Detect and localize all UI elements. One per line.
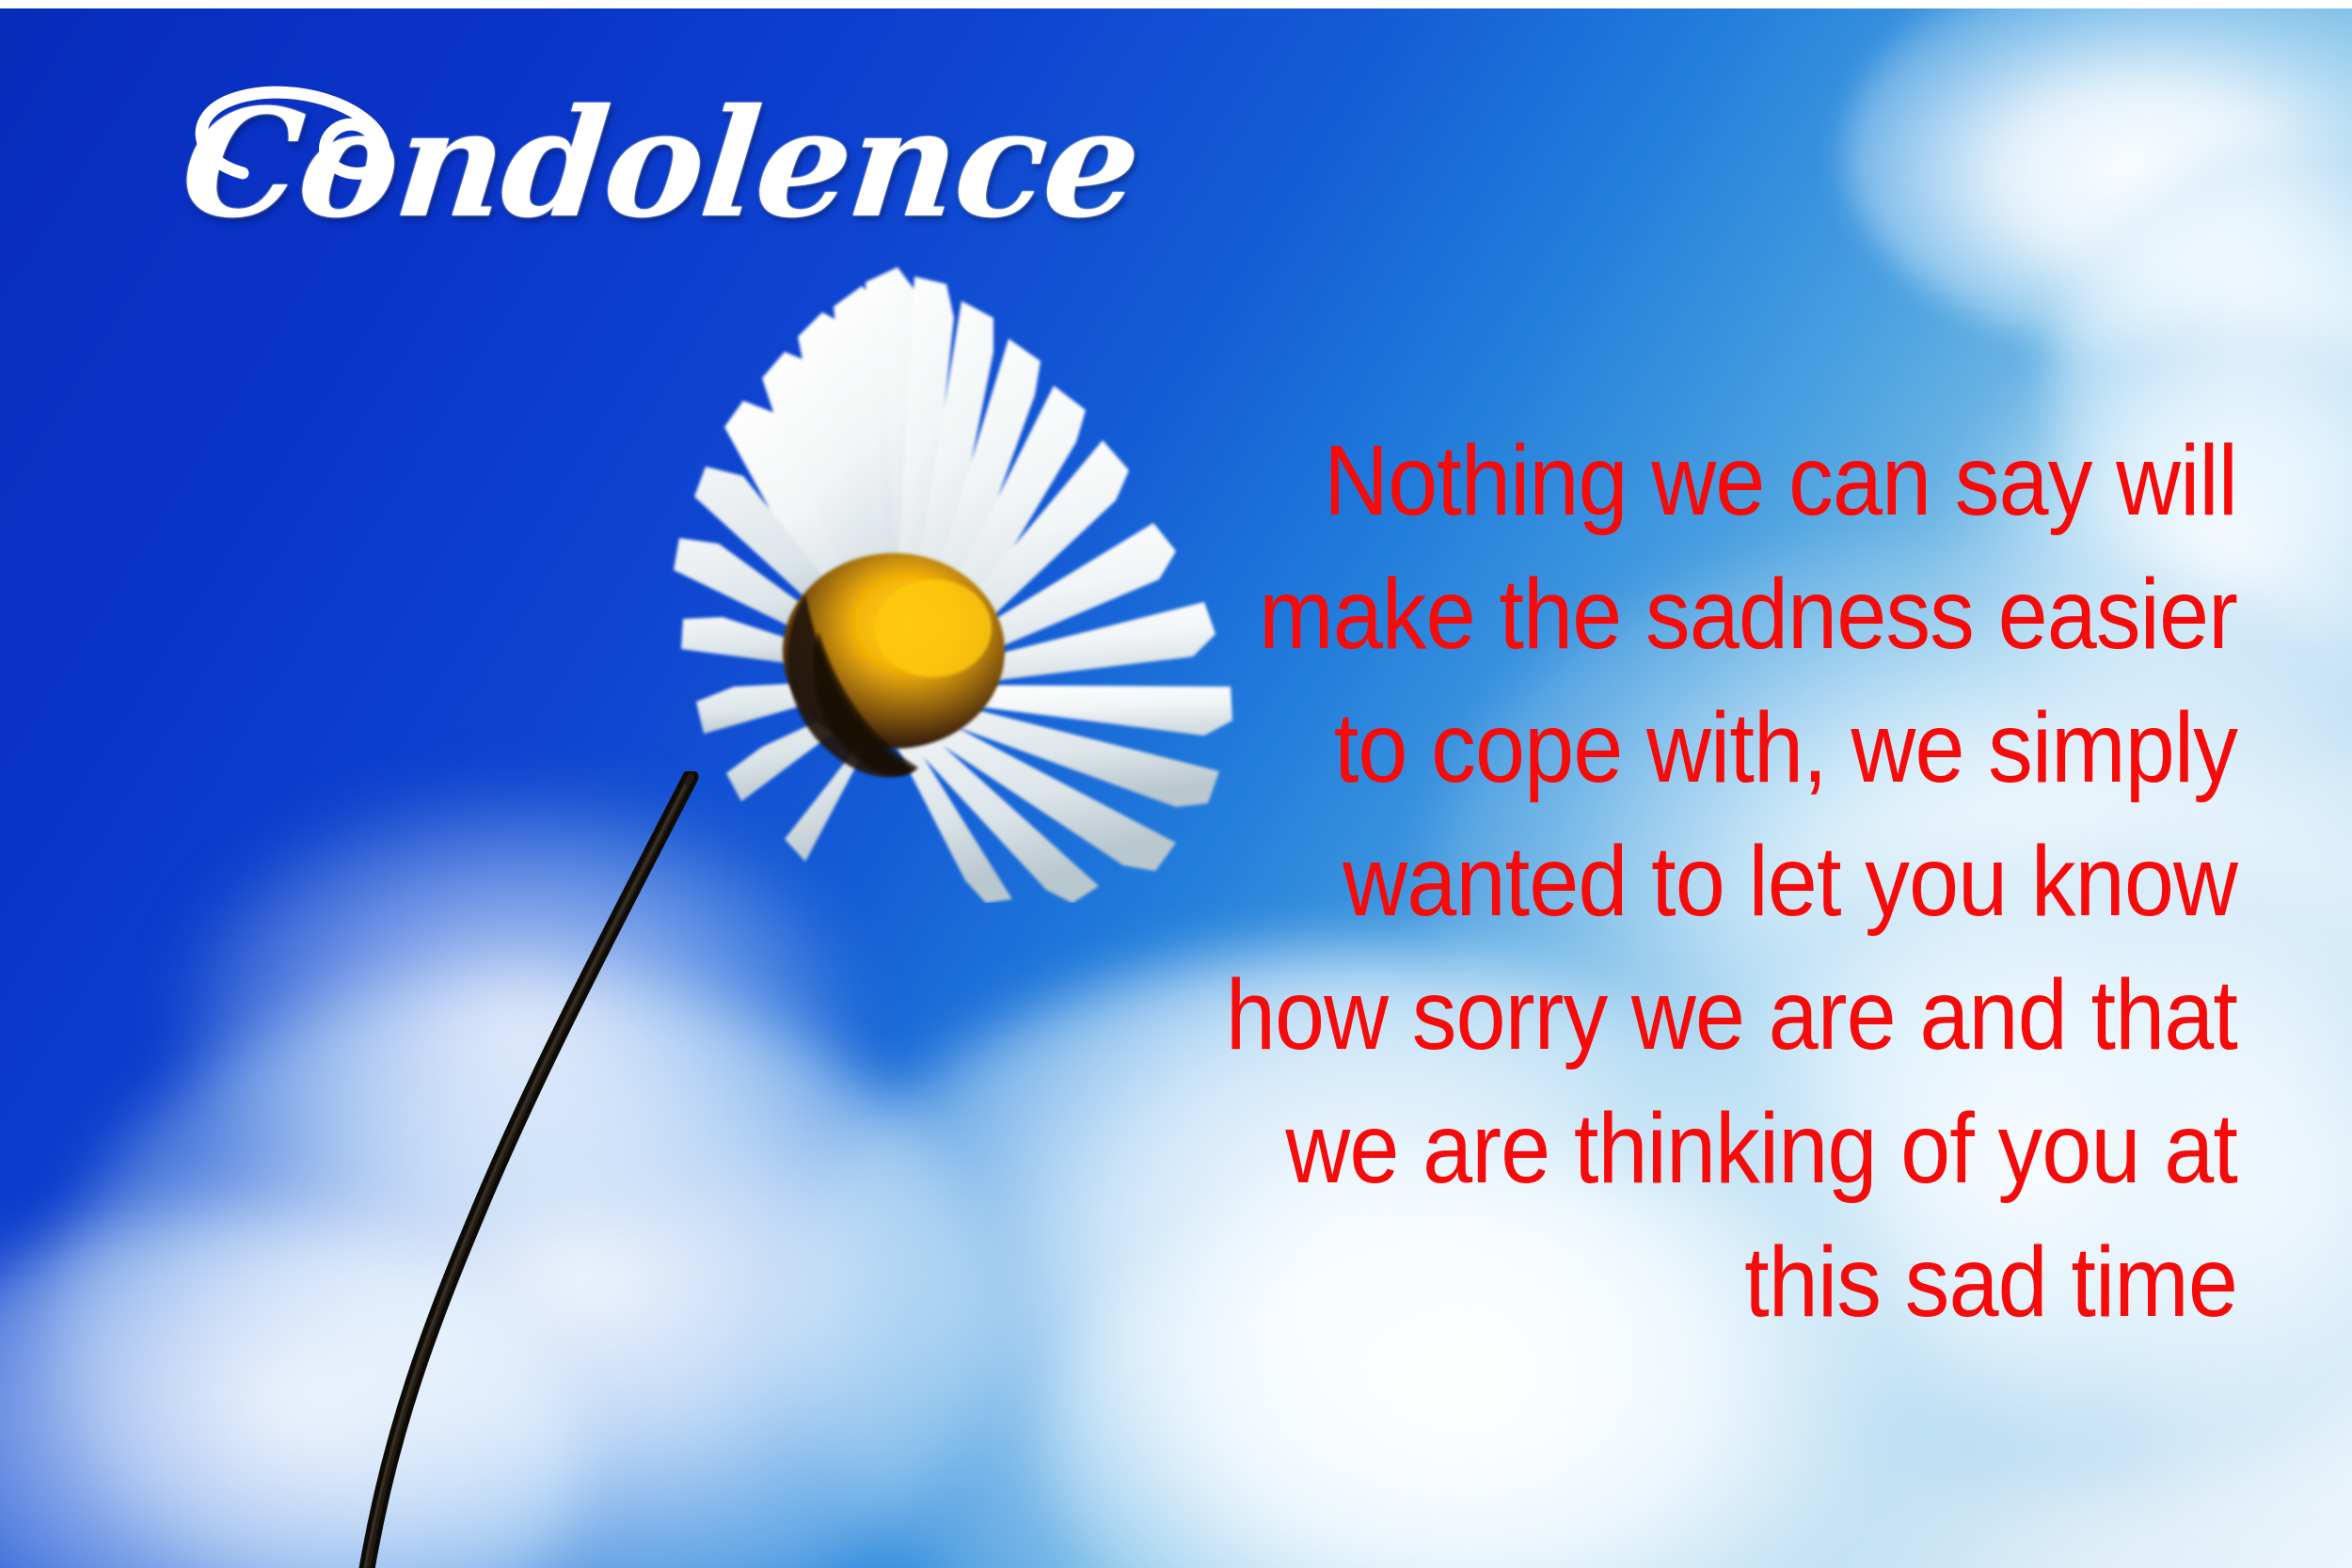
message-line: we are thinking of you at	[1120, 1082, 2237, 1215]
condolence-card: Condolence Nothing we can say will make …	[0, 0, 2352, 1568]
cloud-top-right-1	[1844, 8, 2352, 356]
message-line: how sorry we are and that	[1120, 948, 2237, 1082]
message-line: this sad time	[1120, 1215, 2237, 1349]
page-title: Condolence	[176, 90, 1146, 239]
cloud-left-1	[188, 798, 847, 1230]
message-line: to cope with, we simply	[1120, 681, 2237, 815]
cloud-bottom-left-2	[0, 1212, 583, 1568]
cloud-bottom-left-1	[56, 976, 997, 1568]
condolence-message: Nothing we can say will make the sadness…	[1120, 414, 2237, 1349]
message-line: wanted to let you know	[1120, 815, 2237, 948]
message-line: Nothing we can say will	[1120, 414, 2237, 547]
top-white-band	[0, 0, 2352, 8]
message-line: make the sadness easier	[1120, 547, 2237, 681]
